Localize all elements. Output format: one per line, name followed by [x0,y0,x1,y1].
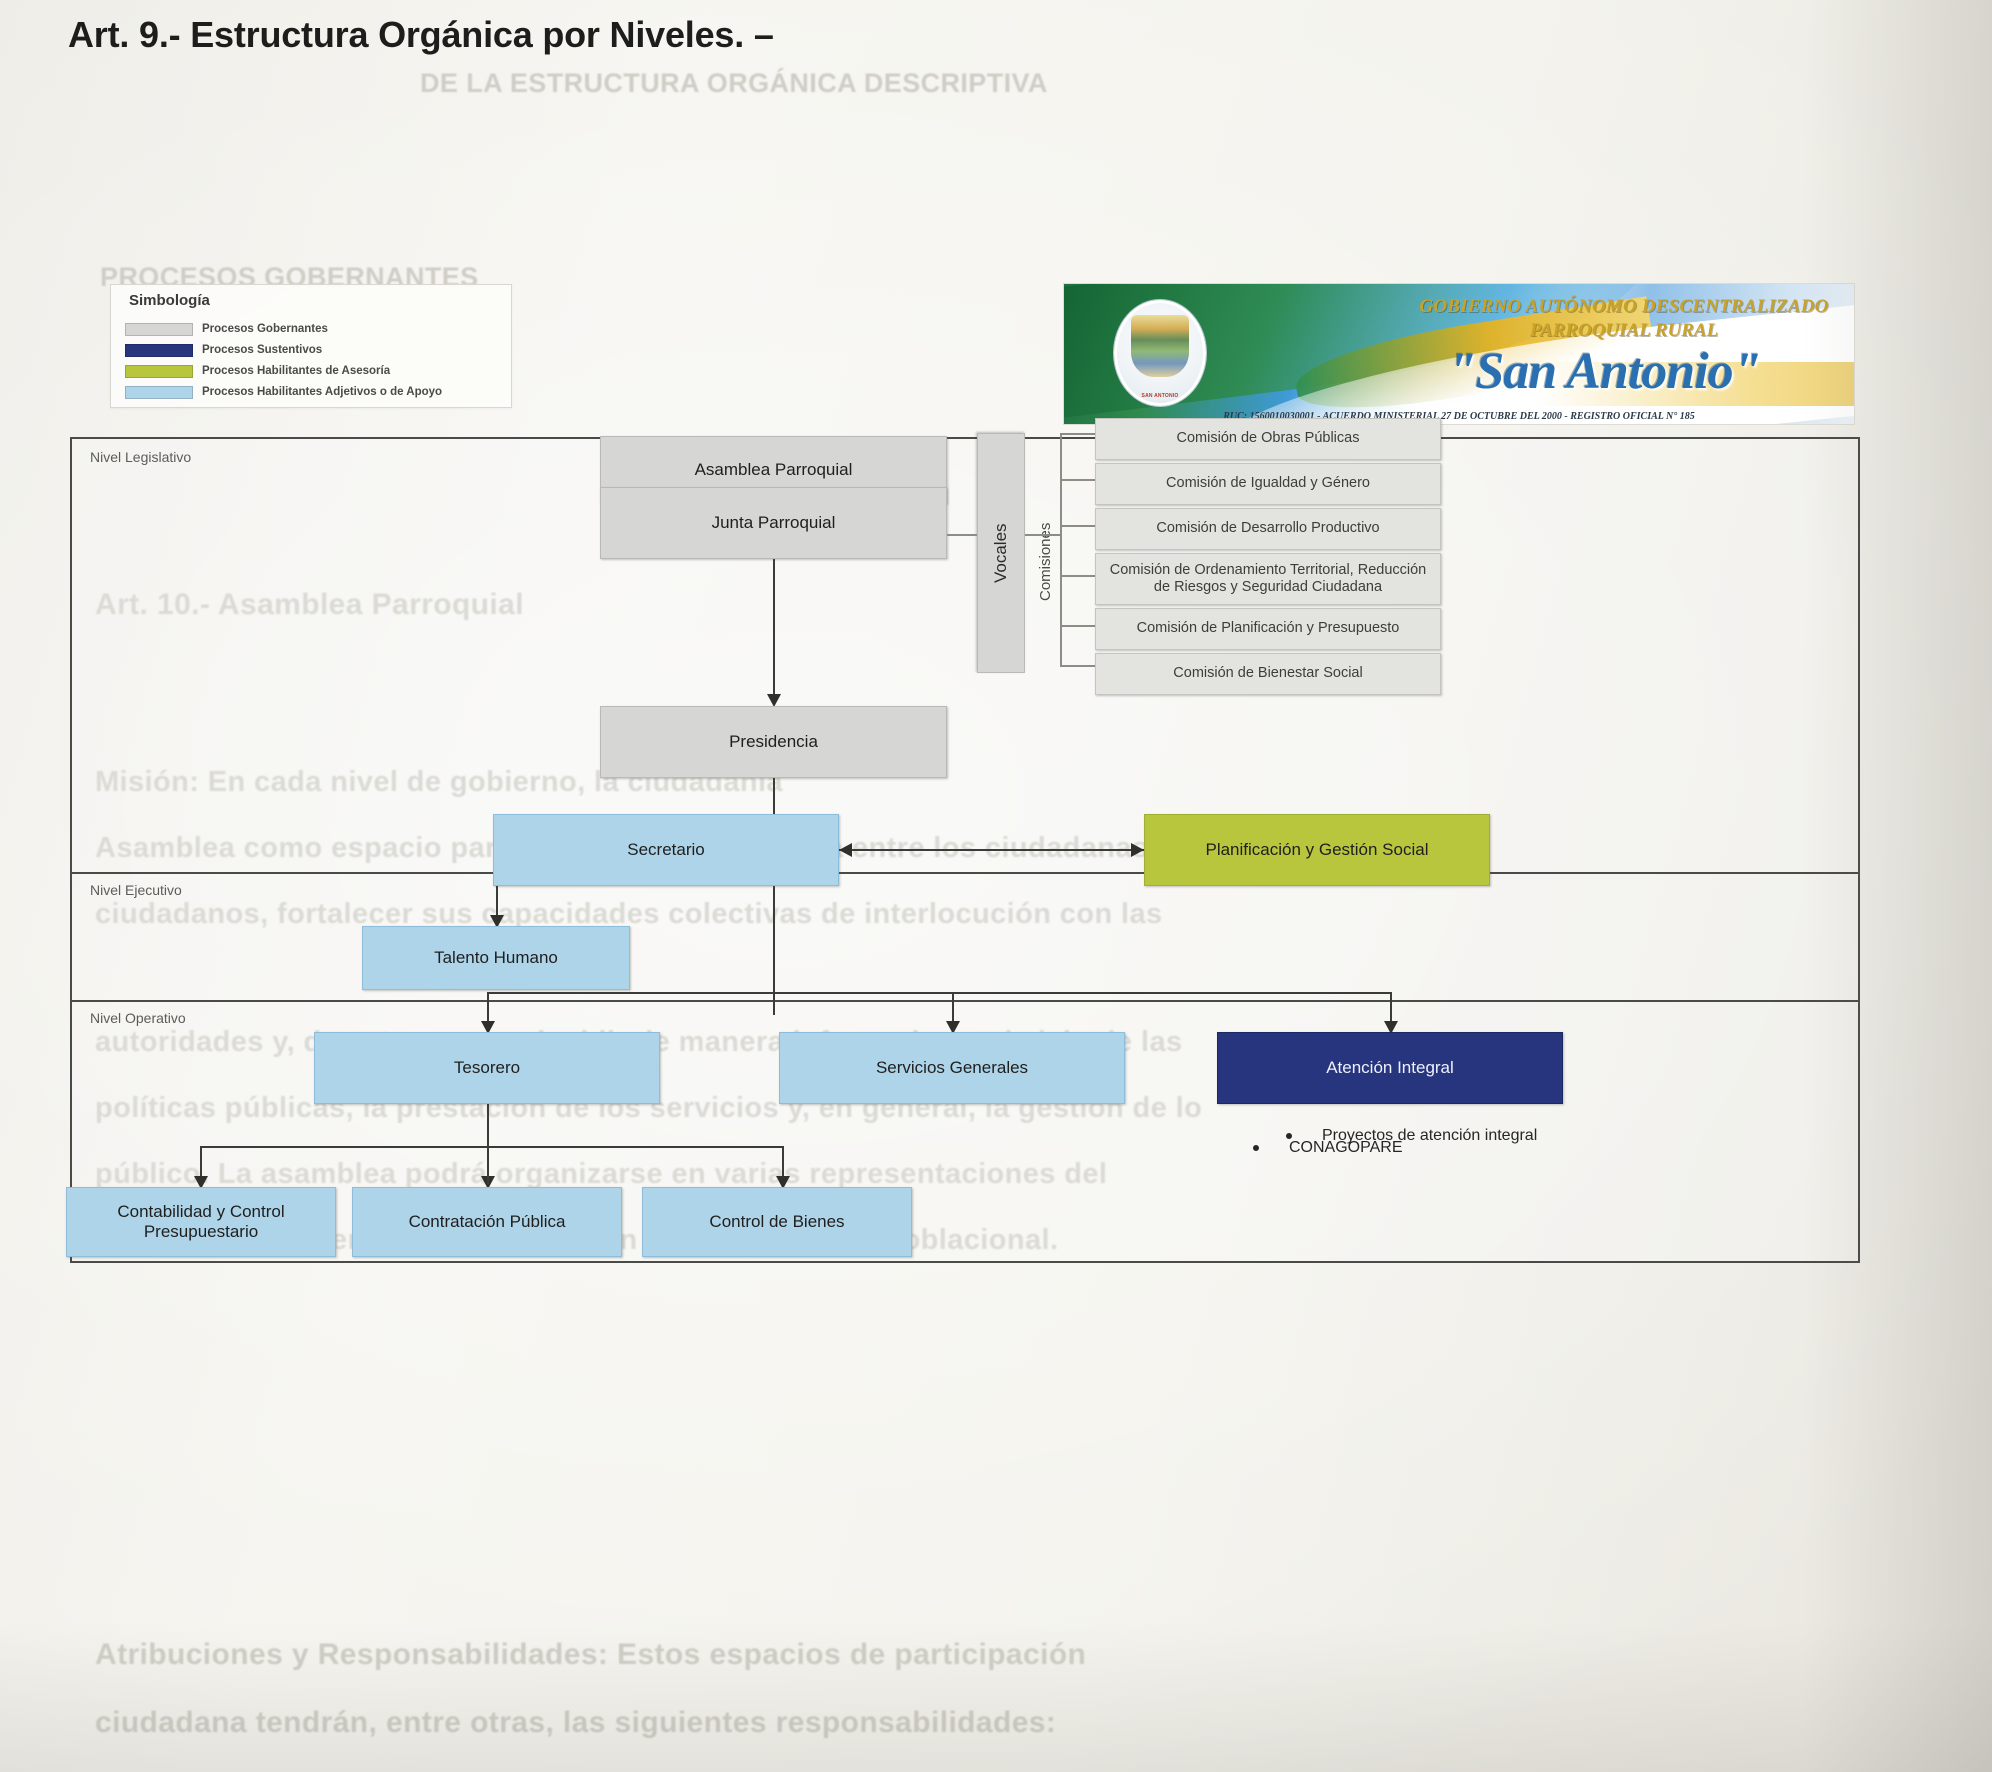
node-atencion-integral[interactable]: Atención Integral [1217,1032,1563,1104]
node-comision-igualdad-genero[interactable]: Comisión de Igualdad y Género [1095,463,1441,505]
org-chart: Nivel Legislativo Nivel Ejecutivo Nivel … [70,437,1860,1263]
level-label-ejecutivo: Nivel Ejecutivo [90,882,182,898]
annotation-proyectos-atencion: Proyectos de atención integral [1286,1127,1537,1145]
level-label-legislativo: Nivel Legislativo [90,449,191,465]
node-planificacion-gestion-social[interactable]: Planificación y Gestión Social [1144,814,1490,886]
coat-of-arms-caption: SAN ANTONIO [1117,393,1203,399]
label-comisiones: Comisiones [1034,467,1058,657]
level-label-operativo: Nivel Operativo [90,1010,186,1026]
node-comision-desarrollo-productivo[interactable]: Comisión de Desarrollo Productivo [1095,508,1441,550]
page-title: Art. 9.- Estructura Orgánica por Niveles… [68,14,774,56]
legend-item-asesoria: Procesos Habilitantes de Asesoría [125,363,390,379]
banner-line-1: GOBIERNO AUTÓNOMO DESCENTRALIZADO [1404,296,1844,318]
legend-swatch-gobernantes [125,323,193,336]
connector-commission-branch [1060,525,1095,527]
legend-item-sustentivos: Procesos Sustentivos [125,342,322,358]
legend-swatch-sustentivos [125,344,193,357]
coat-of-arms-icon: SAN ANTONIO [1114,300,1206,406]
institution-banner: SAN ANTONIO GOBIERNO AUTÓNOMO DESCENTRAL… [1063,283,1855,425]
node-vocales[interactable]: Vocales [977,433,1025,673]
legend-label: Procesos Sustentivos [202,344,322,356]
coat-of-arms-shield [1131,315,1189,377]
node-secretario[interactable]: Secretario [493,814,839,886]
node-contratacion-publica[interactable]: Contratación Pública [352,1187,622,1257]
connector-tesorero-down [487,1104,489,1147]
connector-vocales-trunk [1025,534,1060,536]
connector-tesorero-distributor [200,1146,487,1148]
arrow-to-planificacion [1131,843,1144,857]
connector-leg-contratacion [487,1146,489,1184]
level-divider-ejecutivo [72,872,1858,874]
level-divider-operativo [72,1000,1858,1002]
legend-symbology: Simbología Procesos Gobernantes Procesos… [110,284,512,408]
node-comision-ordenamiento-territorial[interactable]: Comisión de Ordenamiento Territorial, Re… [1095,553,1441,605]
legend-label: Procesos Habilitantes Adjetivos o de Apo… [202,386,442,398]
node-contabilidad-control-presupuestario[interactable]: Contabilidad y Control Presupuestario [66,1187,336,1257]
connector-junta-vocales [947,534,977,536]
connector-tesorero-distributor-right [487,1146,782,1148]
connector-commission-branch [1060,479,1095,481]
paper-shadow-bottom [0,1622,1992,1772]
node-tesorero[interactable]: Tesorero [314,1032,660,1104]
connector-secretario-planificacion [839,849,1144,851]
banner-parish-name: "San Antonio" [1364,342,1844,401]
connector-commissions-spine [1060,433,1062,665]
ghost-text: ciudadana tendrán, entre otras, las sigu… [95,1706,1056,1740]
connector-commission-branch [1060,433,1095,435]
connector-commission-branch [1060,625,1095,627]
node-control-de-bienes[interactable]: Control de Bienes [642,1187,912,1257]
node-talento-humano[interactable]: Talento Humano [362,926,630,990]
banner-line-2: PARROQUIAL RURAL [1404,320,1844,342]
ghost-text: DE LA ESTRUCTURA ORGÁNICA DESCRIPTIVA [420,68,1048,99]
connector-operativo-distributor [487,992,1390,994]
node-comision-bienestar-social[interactable]: Comisión de Bienestar Social [1095,653,1441,695]
ghost-text: Atribuciones y Responsabilidades: Estos … [95,1638,1086,1672]
connector-commission-branch [1060,575,1095,577]
node-servicios-generales[interactable]: Servicios Generales [779,1032,1125,1104]
legend-swatch-asesoria [125,365,193,378]
connector-commission-branch [1060,665,1095,667]
document-page: DE LA ESTRUCTURA ORGÁNICA DESCRIPTIVA PR… [0,0,1992,1772]
annotation-text: Proyectos de atención integral [1322,1127,1537,1145]
bullet-dot-icon [1286,1133,1292,1139]
legend-label: Procesos Habilitantes de Asesoría [202,365,390,377]
node-presidencia[interactable]: Presidencia [600,706,947,778]
legend-label: Procesos Gobernantes [202,323,328,335]
legend-item-apoyo: Procesos Habilitantes Adjetivos o de Apo… [125,384,442,400]
legend-title: Simbología [129,292,210,309]
arrow-to-secretario [839,843,852,857]
node-junta-parroquial[interactable]: Junta Parroquial [600,487,947,559]
node-comision-obras-publicas[interactable]: Comisión de Obras Públicas [1095,418,1441,460]
node-comision-planificacion-presupuesto[interactable]: Comisión de Planificación y Presupuesto [1095,608,1441,650]
legend-item-gobernantes: Procesos Gobernantes [125,321,328,337]
legend-swatch-apoyo [125,386,193,399]
bullet-dot-icon [1253,1145,1259,1151]
connector-junta-presidencia [773,559,775,697]
